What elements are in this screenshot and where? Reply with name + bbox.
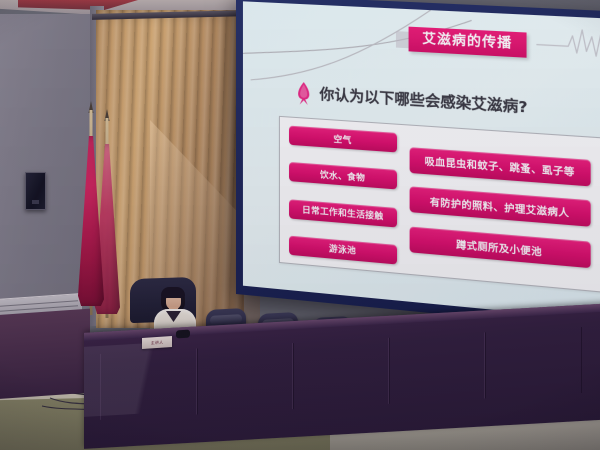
presenter-nameplate: 主讲人 [142,336,172,349]
wall-speaker-icon [25,172,46,210]
nameplate-text: 主讲人 [142,336,172,349]
chip-item: 饮水、食物 [289,162,397,190]
chip-item: 蹲式厕所及小便池 [410,227,591,269]
podium-panel [100,348,198,419]
presenter-fringe [161,287,185,298]
slide-content-panel: 空气 饮水、食物 日常工作和生活接触 游泳池 吸血昆虫和蚊子、跳蚤、虱子等 有防… [279,116,600,293]
projection-screen: 艾滋病的传播 你认为以下哪些会感染艾滋病? 空气 饮水、食物 日常工作和生活接触… [243,1,600,322]
side-cabinet [0,309,90,400]
non-transmission-right-column: 吸血昆虫和蚊子、跳蚤、虱子等 有防护的照料、护理艾滋病人 蹲式厕所及小便池 [410,134,591,282]
ceremonial-flag-front [76,110,106,315]
non-transmission-left-column: 空气 饮水、食物 日常工作和生活接触 游泳池 [289,126,397,265]
chip-item: 有防护的照料、护理艾滋病人 [410,187,591,227]
aids-ribbon-icon [295,80,312,106]
chip-item: 吸血昆虫和蚊子、跳蚤、虱子等 [410,147,591,186]
heartbeat-line-icon [536,28,600,59]
chip-item: 空气 [289,126,397,153]
podium-panel [292,338,390,409]
projection-screen-frame: 艾滋病的传播 你认为以下哪些会感染艾滋病? 空气 饮水、食物 日常工作和生活接触… [236,0,600,333]
podium-panel [196,343,294,414]
chip-item: 日常工作和生活接触 [289,199,397,227]
podium-panel [388,332,486,403]
podium-panel [484,327,582,398]
lecture-hall-photo: 艾滋病的传播 你认为以下哪些会感染艾滋病? 空气 饮水、食物 日常工作和生活接触… [0,0,600,450]
desk-microphone [176,330,190,339]
flag-cloth [78,136,104,306]
chip-item: 游泳池 [289,236,397,265]
